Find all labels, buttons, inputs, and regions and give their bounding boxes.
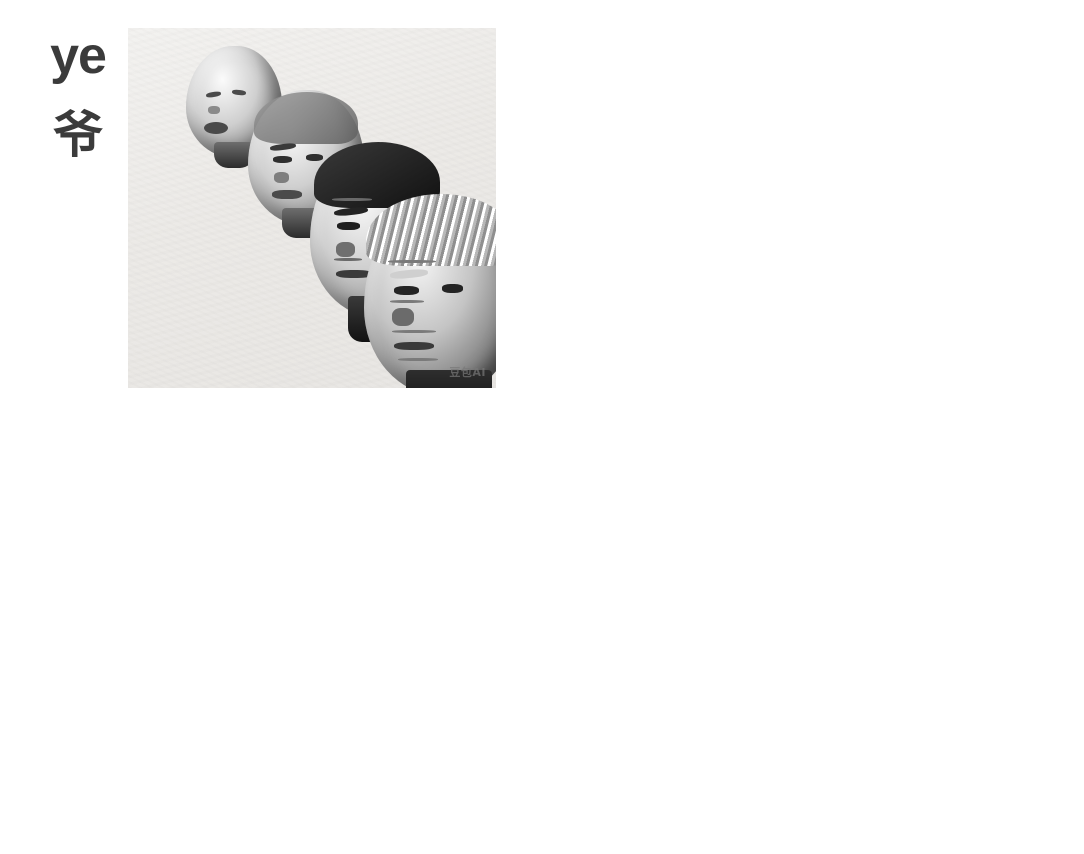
card-ye-night: ye 夜 <box>0 427 542 854</box>
flashcard-sheet: ye 爷 <box>0 0 1084 854</box>
image-four-ages-of-man: 豆包AI <box>128 28 496 388</box>
hanzi-text: 爷 <box>18 110 138 160</box>
card-ye-leaf: ye 叶 <box>542 0 1084 427</box>
card-label-ye-grandfather: ye 爷 <box>18 30 138 160</box>
pinyin-text: ye <box>18 30 138 82</box>
face-old-man <box>364 200 496 388</box>
card-ye-field: ye 野 <box>542 427 1084 854</box>
watermark: 豆包AI <box>449 364 486 380</box>
card-ye-grandfather: ye 爷 <box>0 0 542 427</box>
